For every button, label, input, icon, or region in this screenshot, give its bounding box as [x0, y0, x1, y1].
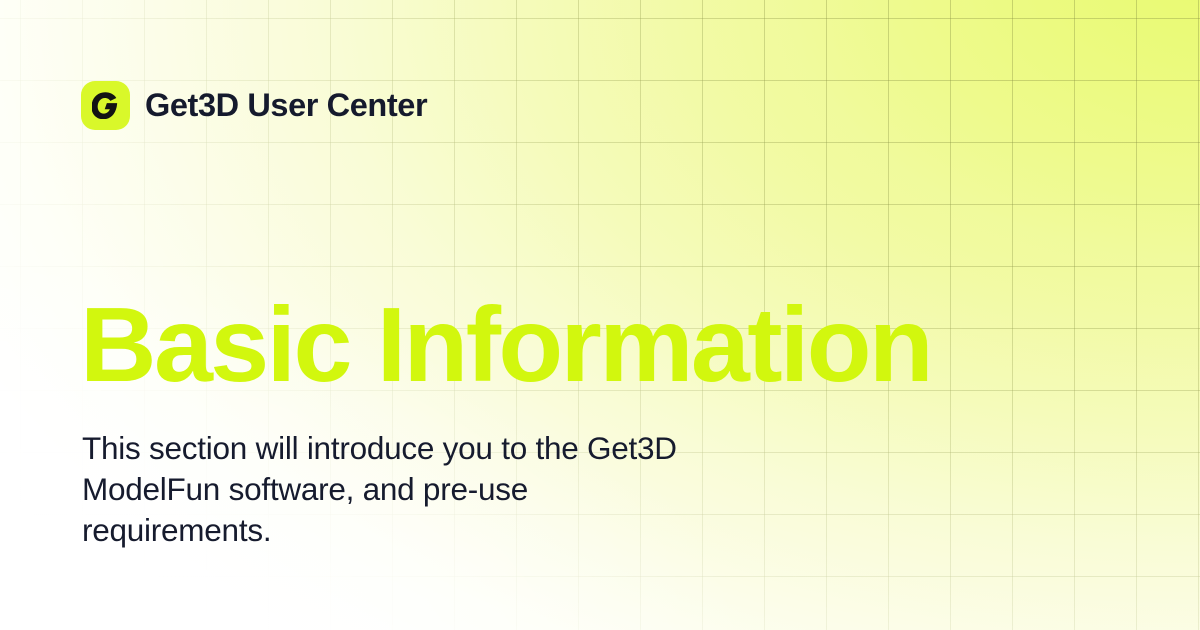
- banner-card: Get3D User Center Basic Information This…: [0, 0, 1200, 630]
- description-line: This section will introduce you to the G…: [82, 428, 872, 469]
- get3d-g-logo-icon: [81, 81, 130, 130]
- description-line: ModelFun software, and pre-use: [82, 469, 872, 510]
- brand-lockup: Get3D User Center: [81, 81, 427, 130]
- banner-content: Get3D User Center Basic Information This…: [0, 0, 1200, 630]
- brand-title: Get3D User Center: [145, 89, 427, 122]
- description-line: requirements.: [82, 510, 872, 551]
- page-description: This section will introduce you to the G…: [82, 428, 872, 551]
- page-title: Basic Information: [80, 292, 931, 398]
